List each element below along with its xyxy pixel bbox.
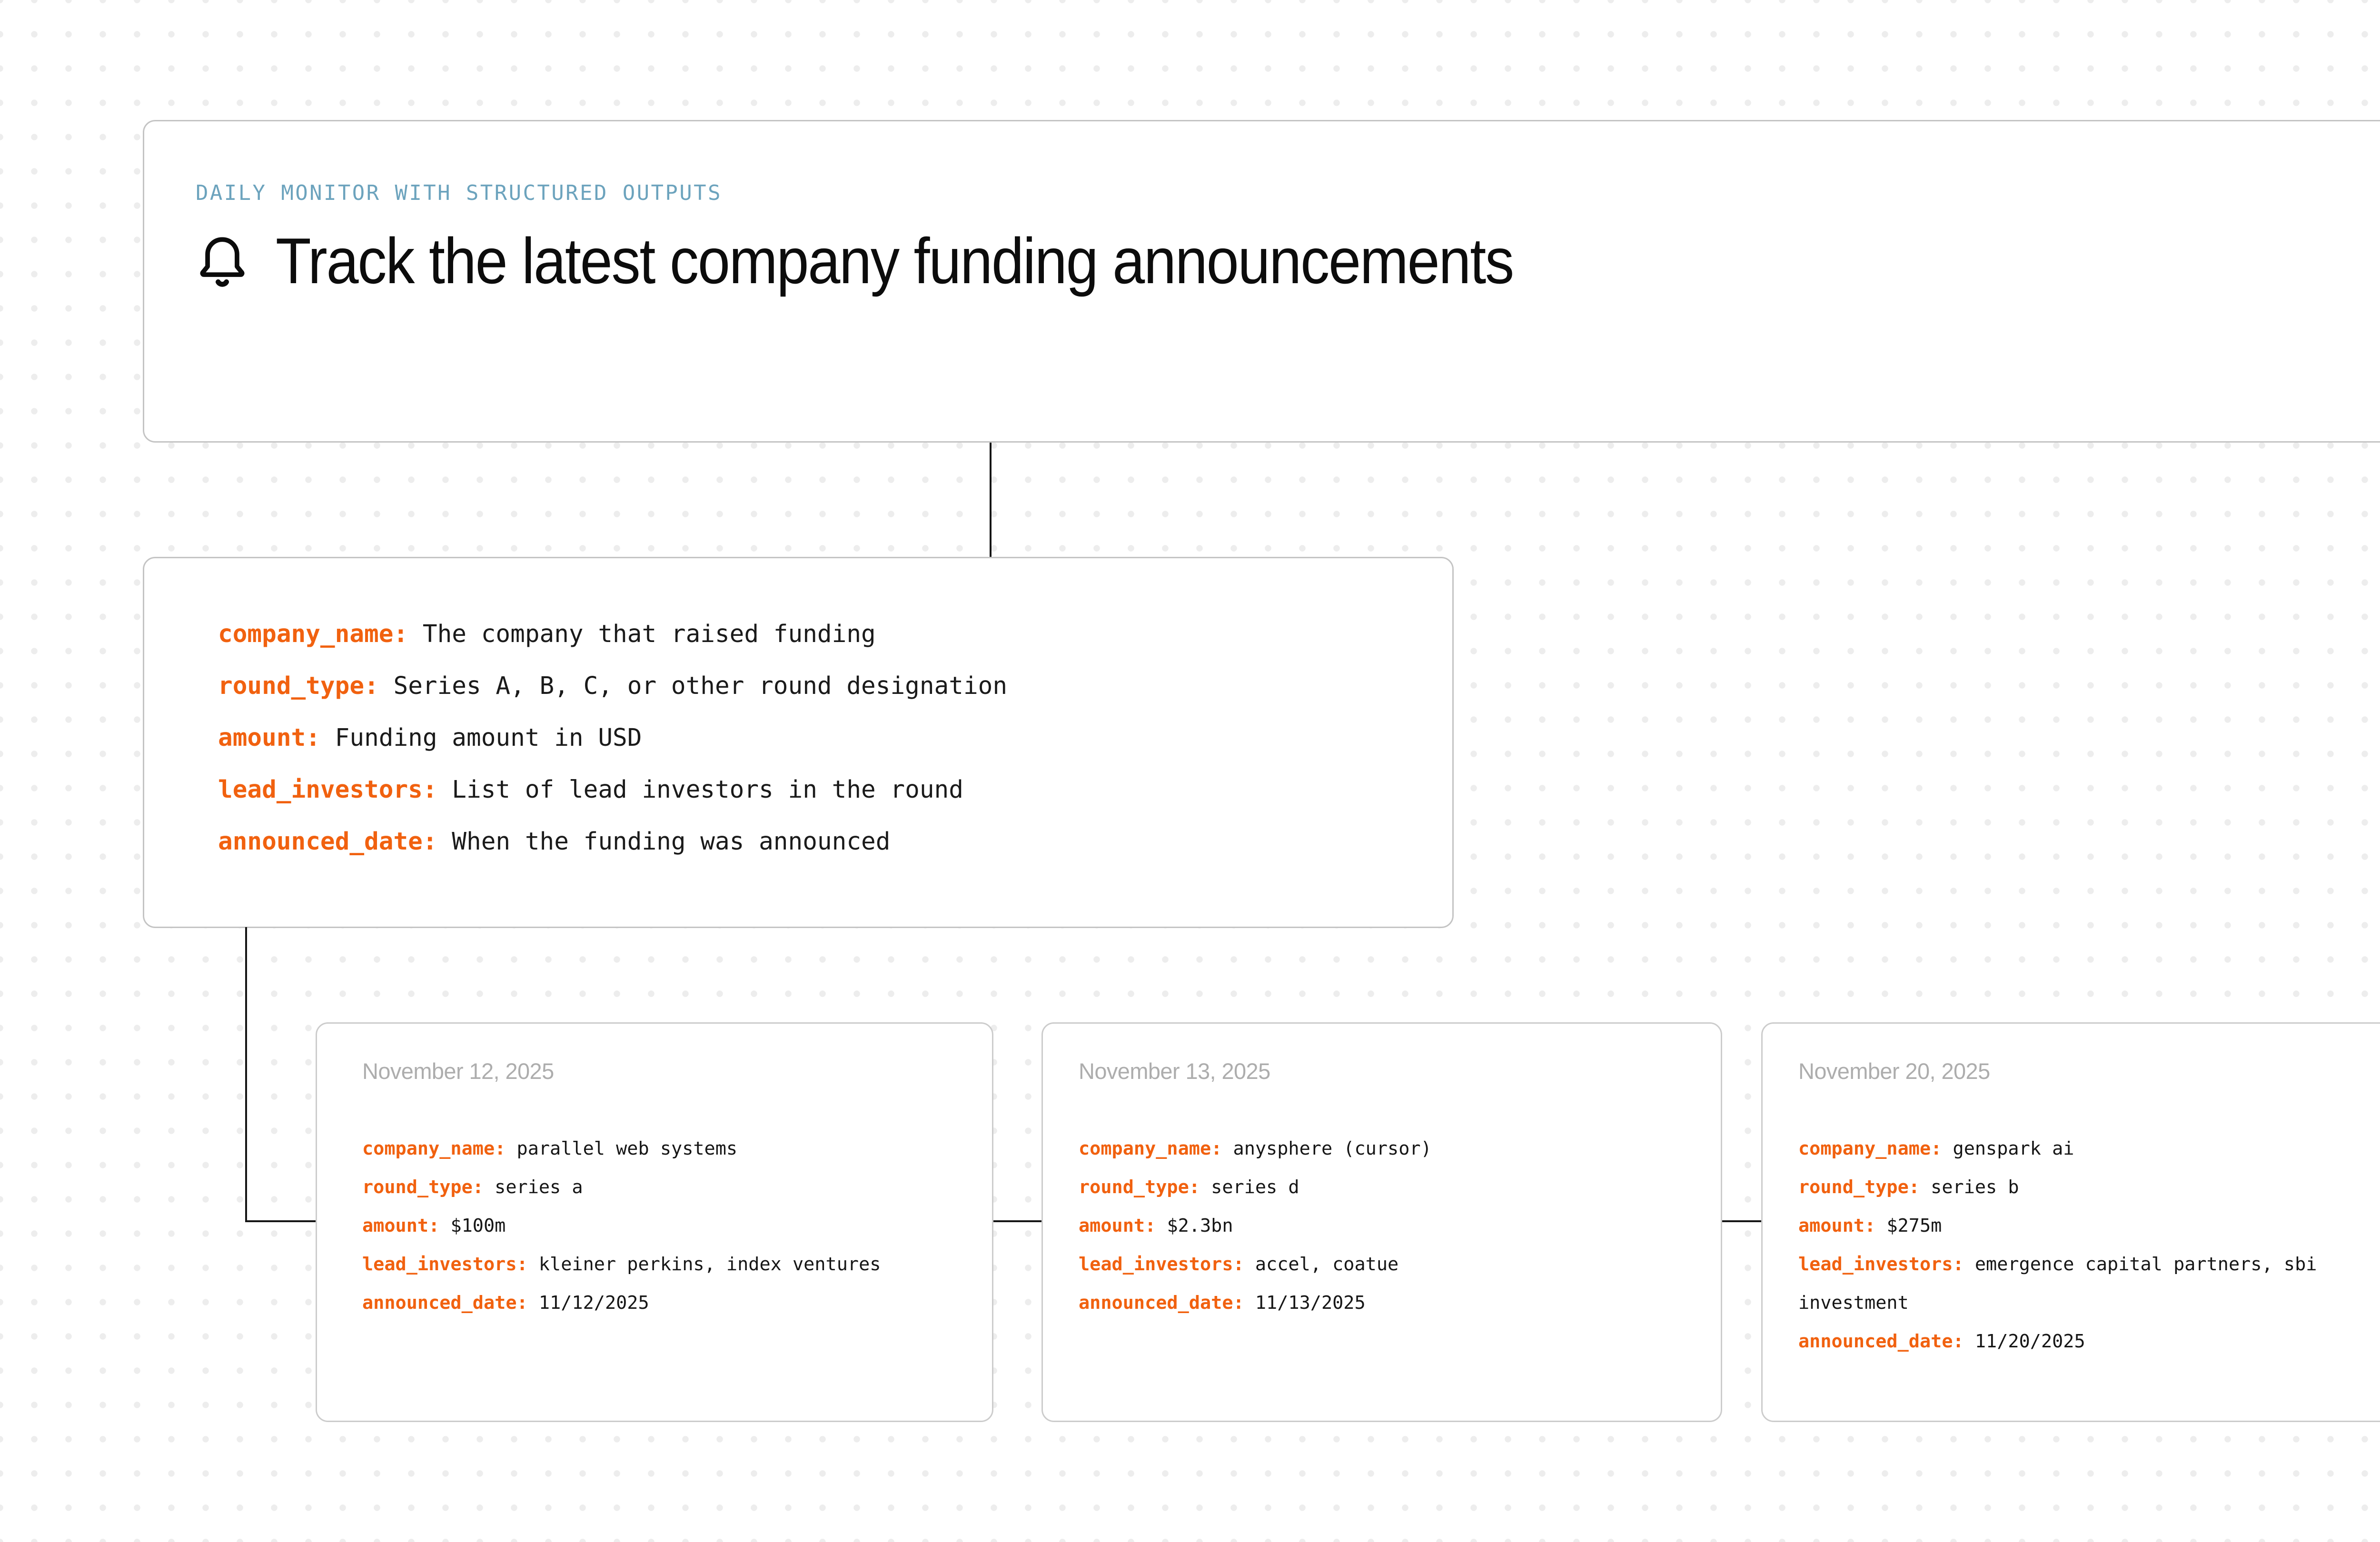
result-field-key: amount: — [1798, 1215, 1875, 1236]
result-field-value: anysphere (cursor) — [1233, 1138, 1432, 1159]
result-field-key: company_name: — [362, 1138, 506, 1159]
result-field-key: lead_investors: — [1798, 1254, 1964, 1275]
result-field-value: 11/20/2025 — [1975, 1331, 2085, 1352]
result-field-key: round_type: — [1079, 1176, 1200, 1198]
schema-field-list: company_name: The company that raised fu… — [218, 608, 1433, 868]
result-field-value: 11/12/2025 — [539, 1292, 649, 1314]
connector-header-to-schema — [990, 443, 992, 558]
header-card: DAILY MONITOR WITH STRUCTURED OUTPUTS Tr… — [143, 120, 2380, 443]
result-field-row: amount: $100m — [362, 1206, 973, 1245]
result-field-key: announced_date: — [1798, 1331, 1964, 1352]
result-field-key: announced_date: — [1079, 1292, 1244, 1314]
connector-result-1-to-result-2 — [1719, 1220, 1765, 1222]
schema-field-description: The company that raised funding — [423, 620, 876, 648]
schema-field-key: lead_investors: — [218, 776, 437, 804]
result-field-row: announced_date: 11/13/2025 — [1079, 1284, 1702, 1322]
connector-schema-to-result-0 — [245, 1220, 319, 1222]
result-field-value: $100m — [450, 1215, 506, 1236]
result-field-row: amount: $2.3bn — [1079, 1206, 1702, 1245]
result-field-row: lead_investors: emergence capital partne… — [1798, 1245, 2380, 1322]
schema-field-row: company_name: The company that raised fu… — [218, 608, 1433, 660]
schema-field-key: company_name: — [218, 620, 408, 648]
result-field-value: $2.3bn — [1167, 1215, 1233, 1236]
schema-field-row: round_type: Series A, B, C, or other rou… — [218, 660, 1433, 712]
schema-definition-card: company_name: The company that raised fu… — [143, 557, 1454, 928]
result-field-value: series d — [1211, 1176, 1299, 1198]
result-card: November 12, 2025 company_name: parallel… — [316, 1022, 993, 1422]
schema-field-description: Series A, B, C, or other round designati… — [393, 672, 1007, 700]
schema-field-row: lead_investors: List of lead investors i… — [218, 764, 1433, 816]
result-field-row: company_name: genspark ai — [1798, 1129, 2380, 1168]
result-field-row: round_type: series a — [362, 1168, 973, 1206]
result-field-key: lead_investors: — [1079, 1254, 1244, 1275]
result-field-key: lead_investors: — [362, 1254, 528, 1275]
result-field-key: announced_date: — [362, 1292, 528, 1314]
result-field-value: series b — [1931, 1176, 2019, 1198]
bell-icon — [196, 232, 249, 289]
result-field-key: round_type: — [1798, 1176, 1920, 1198]
header-title-row: Track the latest company funding announc… — [196, 224, 1651, 298]
result-field-value: series a — [495, 1176, 583, 1198]
result-field-key: amount: — [1079, 1215, 1156, 1236]
connector-schema-vertical — [245, 927, 247, 1222]
result-field-value: $275m — [1886, 1215, 1942, 1236]
schema-field-description: When the funding was announced — [452, 828, 890, 856]
schema-field-row: announced_date: When the funding was ann… — [218, 816, 1433, 868]
flow-canvas: DAILY MONITOR WITH STRUCTURED OUTPUTS Tr… — [0, 0, 2380, 1542]
result-field-value: parallel web systems — [517, 1138, 738, 1159]
result-field-key: round_type: — [362, 1176, 484, 1198]
result-field-value: kleiner perkins, index ventures — [539, 1254, 881, 1275]
result-field-list: company_name: anysphere (cursor) round_t… — [1079, 1129, 1702, 1322]
result-field-row: lead_investors: kleiner perkins, index v… — [362, 1245, 973, 1284]
connector-result-0-to-result-1 — [992, 1220, 1044, 1222]
result-card: November 13, 2025 company_name: anyspher… — [1041, 1022, 1722, 1422]
result-field-key: amount: — [362, 1215, 439, 1236]
result-field-value: 11/13/2025 — [1255, 1292, 1366, 1314]
result-field-key: company_name: — [1798, 1138, 1942, 1159]
result-field-row: amount: $275m — [1798, 1206, 2380, 1245]
result-field-value: accel, coatue — [1255, 1254, 1398, 1275]
result-date: November 20, 2025 — [1798, 1058, 1990, 1084]
schema-field-key: round_type: — [218, 672, 379, 700]
header-eyebrow-label: DAILY MONITOR WITH STRUCTURED OUTPUTS — [196, 181, 722, 205]
page-title: Track the latest company funding announc… — [276, 224, 1513, 298]
result-date: November 12, 2025 — [362, 1058, 554, 1084]
result-field-list: company_name: parallel web systems round… — [362, 1129, 973, 1322]
result-field-row: round_type: series d — [1079, 1168, 1702, 1206]
schema-field-key: announced_date: — [218, 828, 437, 856]
result-field-row: announced_date: 11/20/2025 — [1798, 1322, 2380, 1361]
result-field-key: company_name: — [1079, 1138, 1222, 1159]
result-field-value: genspark ai — [1953, 1138, 2074, 1159]
schema-field-key: amount: — [218, 724, 320, 752]
result-field-row: round_type: series b — [1798, 1168, 2380, 1206]
result-card: November 20, 2025 company_name: genspark… — [1761, 1022, 2380, 1422]
result-field-row: company_name: anysphere (cursor) — [1079, 1129, 1702, 1168]
result-date: November 13, 2025 — [1079, 1058, 1270, 1084]
result-field-row: company_name: parallel web systems — [362, 1129, 973, 1168]
schema-field-description: List of lead investors in the round — [452, 776, 963, 804]
result-field-row: announced_date: 11/12/2025 — [362, 1284, 973, 1322]
result-field-list: company_name: genspark ai round_type: se… — [1798, 1129, 2380, 1361]
schema-field-description: Funding amount in USD — [335, 724, 642, 752]
result-field-row: lead_investors: accel, coatue — [1079, 1245, 1702, 1284]
schema-field-row: amount: Funding amount in USD — [218, 712, 1433, 764]
